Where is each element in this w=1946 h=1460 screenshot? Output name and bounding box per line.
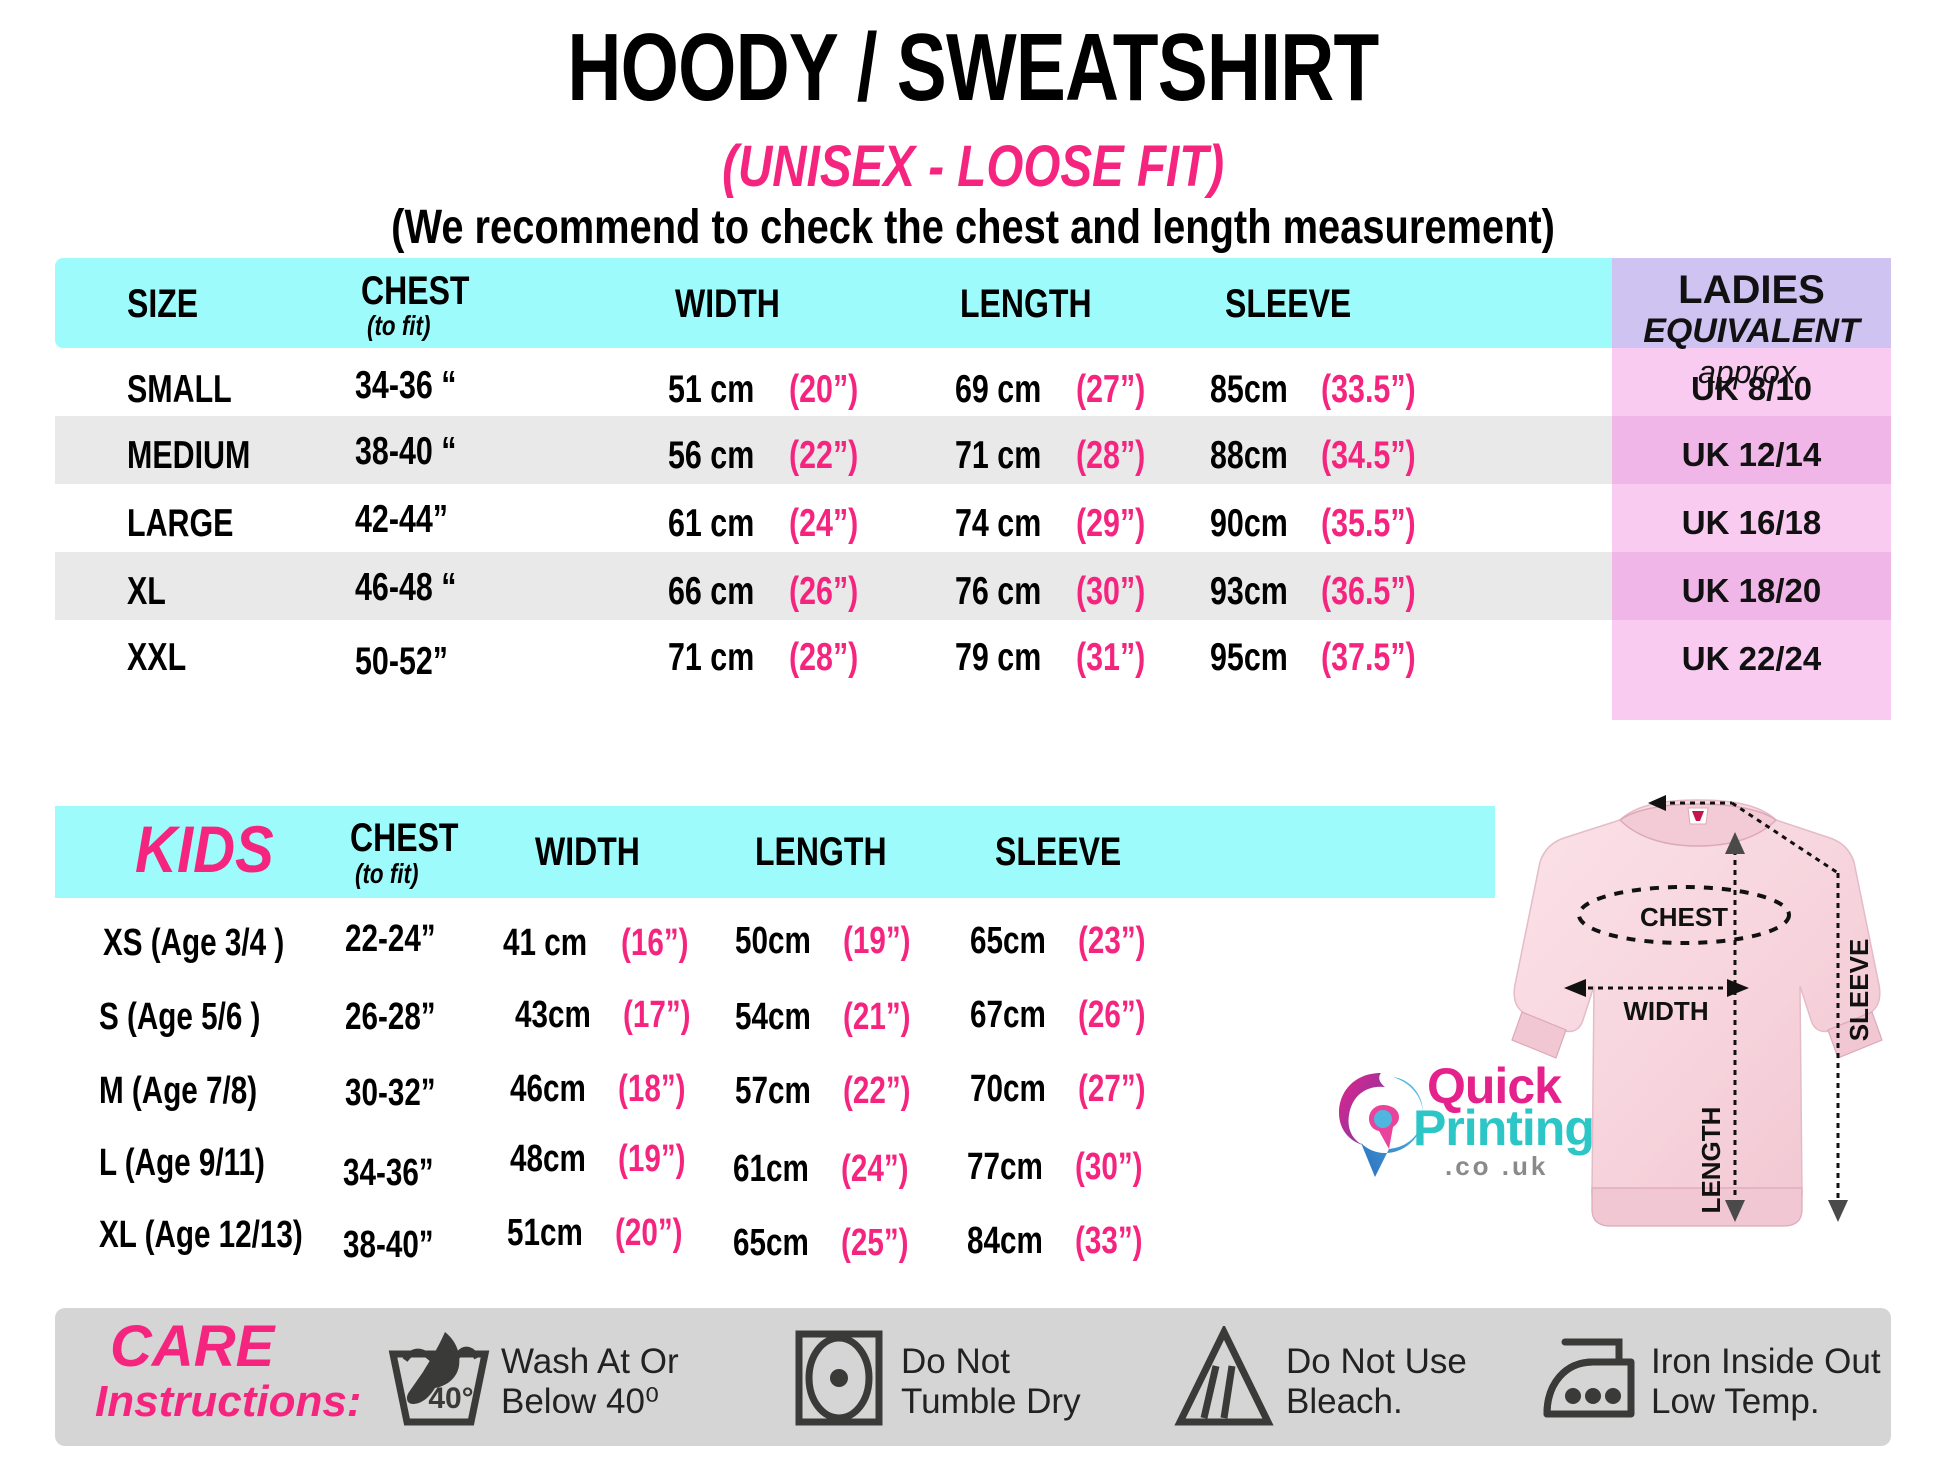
cell-chest: 38-40 “ (355, 432, 485, 471)
cell-length: 69 cm (27”) (955, 370, 1165, 409)
cell-width: 51 cm (20”) (668, 370, 878, 409)
care-item-no-bleach-text: Do Not Use Bleach. (1286, 1342, 1467, 1423)
cell-size: XL (127, 572, 177, 611)
kids-cell-length: 54cm (21”) (735, 998, 929, 1036)
cell-ladies: UK 8/10 (1612, 372, 1891, 405)
kids-cell-sleeve: 70cm (27”) (970, 1070, 1164, 1108)
cell-sleeve: 85cm (33.5”) (1210, 370, 1442, 409)
cell-ladies: UK 18/20 (1612, 574, 1891, 607)
recommendation-note-text: (We recommend to check the chest and len… (391, 204, 1555, 252)
cell-sleeve: 93cm (36.5”) (1210, 572, 1442, 611)
page-title: HOODY / SWEATSHIRT (0, 20, 1946, 116)
cell-width: 71 cm (28”) (668, 638, 878, 677)
cell-width: 66 cm (26”) (668, 572, 878, 611)
column-header-sleeve: SLEEVE (1225, 284, 1383, 324)
kids-cell-width: 43cm (17”) (515, 996, 709, 1034)
cell-length: 79 cm (31”) (955, 638, 1165, 677)
subtitle: (UNISEX - LOOSE FIT) (0, 138, 1946, 196)
kids-cell-size: M (Age 7/8) (99, 1072, 302, 1110)
cell-width: 61 cm (24”) (668, 504, 878, 543)
care-item-no-tumble-dry-text: Do Not Tumble Dry (901, 1342, 1081, 1423)
no-tumble-dry-icon (785, 1326, 893, 1430)
recommendation-note: (We recommend to check the chest and len… (0, 204, 1946, 252)
column-header-size: SIZE (127, 284, 216, 324)
kids-cell-size: L (Age 9/11) (99, 1144, 312, 1182)
logo-domain-text: .co .uk (1445, 1153, 1548, 1179)
kids-cell-length: 57cm (22”) (735, 1072, 929, 1110)
cell-ladies: UK 22/24 (1612, 642, 1891, 675)
cell-ladies: UK 12/14 (1612, 438, 1891, 471)
cell-chest: 50-52” (355, 642, 474, 681)
cell-size: XXL (127, 638, 203, 677)
column-header-width: WIDTH (675, 284, 806, 324)
kids-cell-sleeve: 67cm (26”) (970, 996, 1164, 1034)
kids-cell-chest: 38-40” (343, 1226, 459, 1264)
kids-cell-size: S (Age 5/6 ) (99, 998, 306, 1036)
sleeve-label: SLEEVE (1844, 939, 1874, 1042)
kids-cell-chest: 26-28” (345, 998, 461, 1036)
kids-size-table: KIDS CHEST (to fit) WIDTH LENGTH SLEEVE … (55, 806, 1495, 1296)
cell-chest: 46-48 “ (355, 568, 485, 607)
column-header-ladies: LADIES (1612, 270, 1891, 310)
kids-column-header-width: WIDTH (535, 832, 666, 872)
cell-size: MEDIUM (127, 436, 285, 475)
kids-cell-length: 50cm (19”) (735, 922, 929, 960)
quick-printing-logo: Quick Printing .co .uk (1335, 1055, 1590, 1215)
title-block: HOODY / SWEATSHIRT (UNISEX - LOOSE FIT) … (0, 0, 1946, 250)
care-item-wash-text: Wash At Or Below 40⁰ (501, 1342, 679, 1423)
cell-chest: 42-44” (355, 500, 474, 539)
subtitle-text: (UNISEX - LOOSE FIT) (722, 138, 1224, 196)
cell-size: SMALL (127, 370, 261, 409)
cell-sleeve: 90cm (35.5”) (1210, 504, 1442, 543)
cell-width: 56 cm (22”) (668, 436, 878, 475)
kids-cell-sleeve: 65cm (23”) (970, 922, 1164, 960)
cell-length: 74 cm (29”) (955, 504, 1165, 543)
kids-cell-width: 46cm (18”) (510, 1070, 704, 1108)
kids-cell-size: XL (Age 12/13) (99, 1216, 360, 1254)
garment-measurement-diagram: CHEST WIDTH LENGTH SLEEVE (1470, 790, 1946, 1290)
cell-chest: 34-36 “ (355, 366, 485, 405)
care-instructions-label: Instructions: (95, 1380, 361, 1424)
cell-sleeve: 95cm (37.5”) (1210, 638, 1442, 677)
kids-column-header-chest-sub: (to fit) (355, 860, 434, 888)
column-header-ladies-equivalent: EQUIVALENT (1612, 314, 1891, 348)
chest-label: CHEST (1640, 902, 1728, 932)
sweatshirt-illustration: CHEST WIDTH LENGTH SLEEVE (1470, 790, 1946, 1290)
column-header-chest-sub: (to fit) (367, 312, 446, 340)
cell-ladies: UK 16/18 (1612, 506, 1891, 539)
cell-size: LARGE (127, 504, 264, 543)
kids-cell-width: 48cm (19”) (510, 1140, 704, 1178)
cell-length: 71 cm (28”) (955, 436, 1165, 475)
care-label: CARE (110, 1318, 274, 1376)
kids-cell-sleeve: 77cm (30”) (967, 1148, 1161, 1186)
length-label: LENGTH (1696, 1107, 1726, 1214)
kids-cell-chest: 22-24” (345, 920, 461, 958)
no-bleach-icon (1170, 1326, 1278, 1430)
adult-size-table: SIZE CHEST (to fit) WIDTH LENGTH SLEEVE … (55, 258, 1891, 788)
page-title-text: HOODY / SWEATSHIRT (567, 20, 1378, 116)
kids-cell-width: 41 cm (16”) (503, 924, 708, 962)
care-item-iron-text: Iron Inside Out Low Temp. (1651, 1342, 1881, 1423)
column-header-length: LENGTH (960, 284, 1124, 324)
kids-column-header-chest: CHEST (350, 818, 486, 858)
kids-cell-chest: 30-32” (345, 1074, 461, 1112)
kids-cell-size: XS (Age 3/4 ) (103, 924, 335, 962)
width-label: WIDTH (1623, 996, 1708, 1026)
svg-text:40°: 40° (428, 1382, 473, 1415)
wash-tub-40-icon: 40° (385, 1326, 493, 1430)
kids-cell-sleeve: 84cm (33”) (967, 1222, 1161, 1260)
kids-label: KIDS (135, 816, 293, 882)
logo-printing-text: Printing (1413, 1103, 1594, 1153)
kids-cell-width: 51cm (20”) (507, 1214, 701, 1252)
kids-column-header-length: LENGTH (755, 832, 919, 872)
kids-column-header-sleeve: SLEEVE (995, 832, 1153, 872)
care-instructions-bar: CARE Instructions: 40° Wash At Or Below … (55, 1308, 1891, 1446)
iron-low-temp-icon (1535, 1326, 1643, 1430)
cell-length: 76 cm (30”) (955, 572, 1165, 611)
column-header-chest: CHEST (361, 271, 497, 311)
kids-cell-chest: 34-36” (343, 1154, 459, 1192)
kids-cell-length: 61cm (24”) (733, 1150, 927, 1188)
kids-cell-length: 65cm (25”) (733, 1224, 927, 1262)
cell-sleeve: 88cm (34.5”) (1210, 436, 1442, 475)
